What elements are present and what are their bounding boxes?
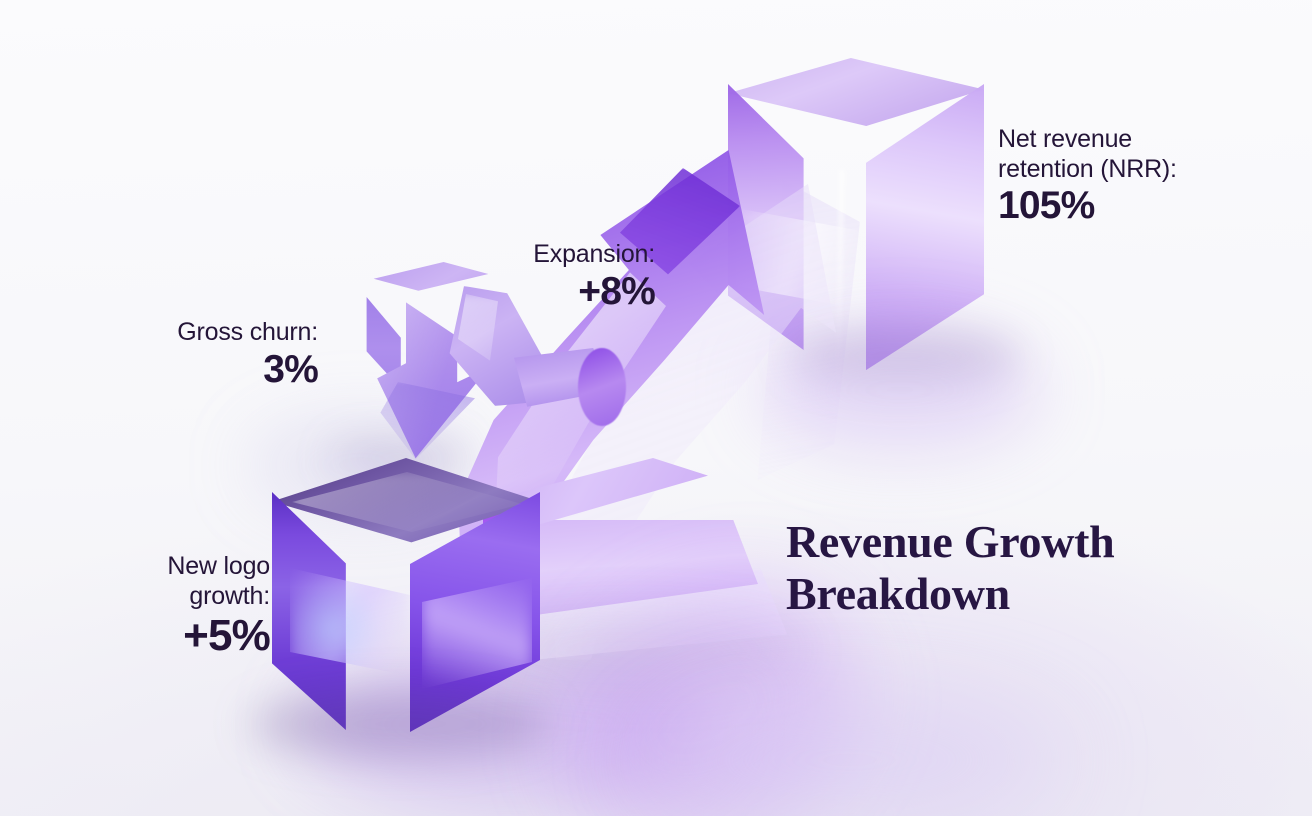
label-net-revenue-retention: Net revenue retention (NRR): 105% (998, 125, 1248, 228)
label-caption: Gross churn: (120, 318, 318, 348)
label-caption: growth: (110, 582, 270, 612)
label-gross-churn: Gross churn: 3% (120, 318, 318, 391)
label-value: +5% (110, 611, 270, 660)
illustration-canvas: Net revenue retention (NRR): 105% Gross … (0, 0, 1312, 816)
label-value: +8% (480, 270, 655, 314)
label-new-logo-growth: New logo growth: +5% (110, 552, 270, 660)
funnel-ring (578, 348, 626, 426)
cube-right-face (866, 84, 984, 376)
title-line-2: Breakdown (786, 568, 1206, 620)
label-value: 105% (998, 184, 1248, 228)
label-caption: New logo (110, 552, 270, 582)
label-caption: retention (NRR): (998, 155, 1248, 185)
page-title: Revenue Growth Breakdown (786, 516, 1206, 620)
label-caption: Expansion: (480, 240, 655, 270)
glass-cube-new-logo (272, 458, 540, 730)
label-expansion: Expansion: +8% (480, 240, 655, 313)
label-caption: Net revenue (998, 125, 1248, 155)
label-value: 3% (120, 348, 318, 392)
floor-glow (640, 700, 1060, 816)
title-line-1: Revenue Growth (786, 516, 1206, 568)
